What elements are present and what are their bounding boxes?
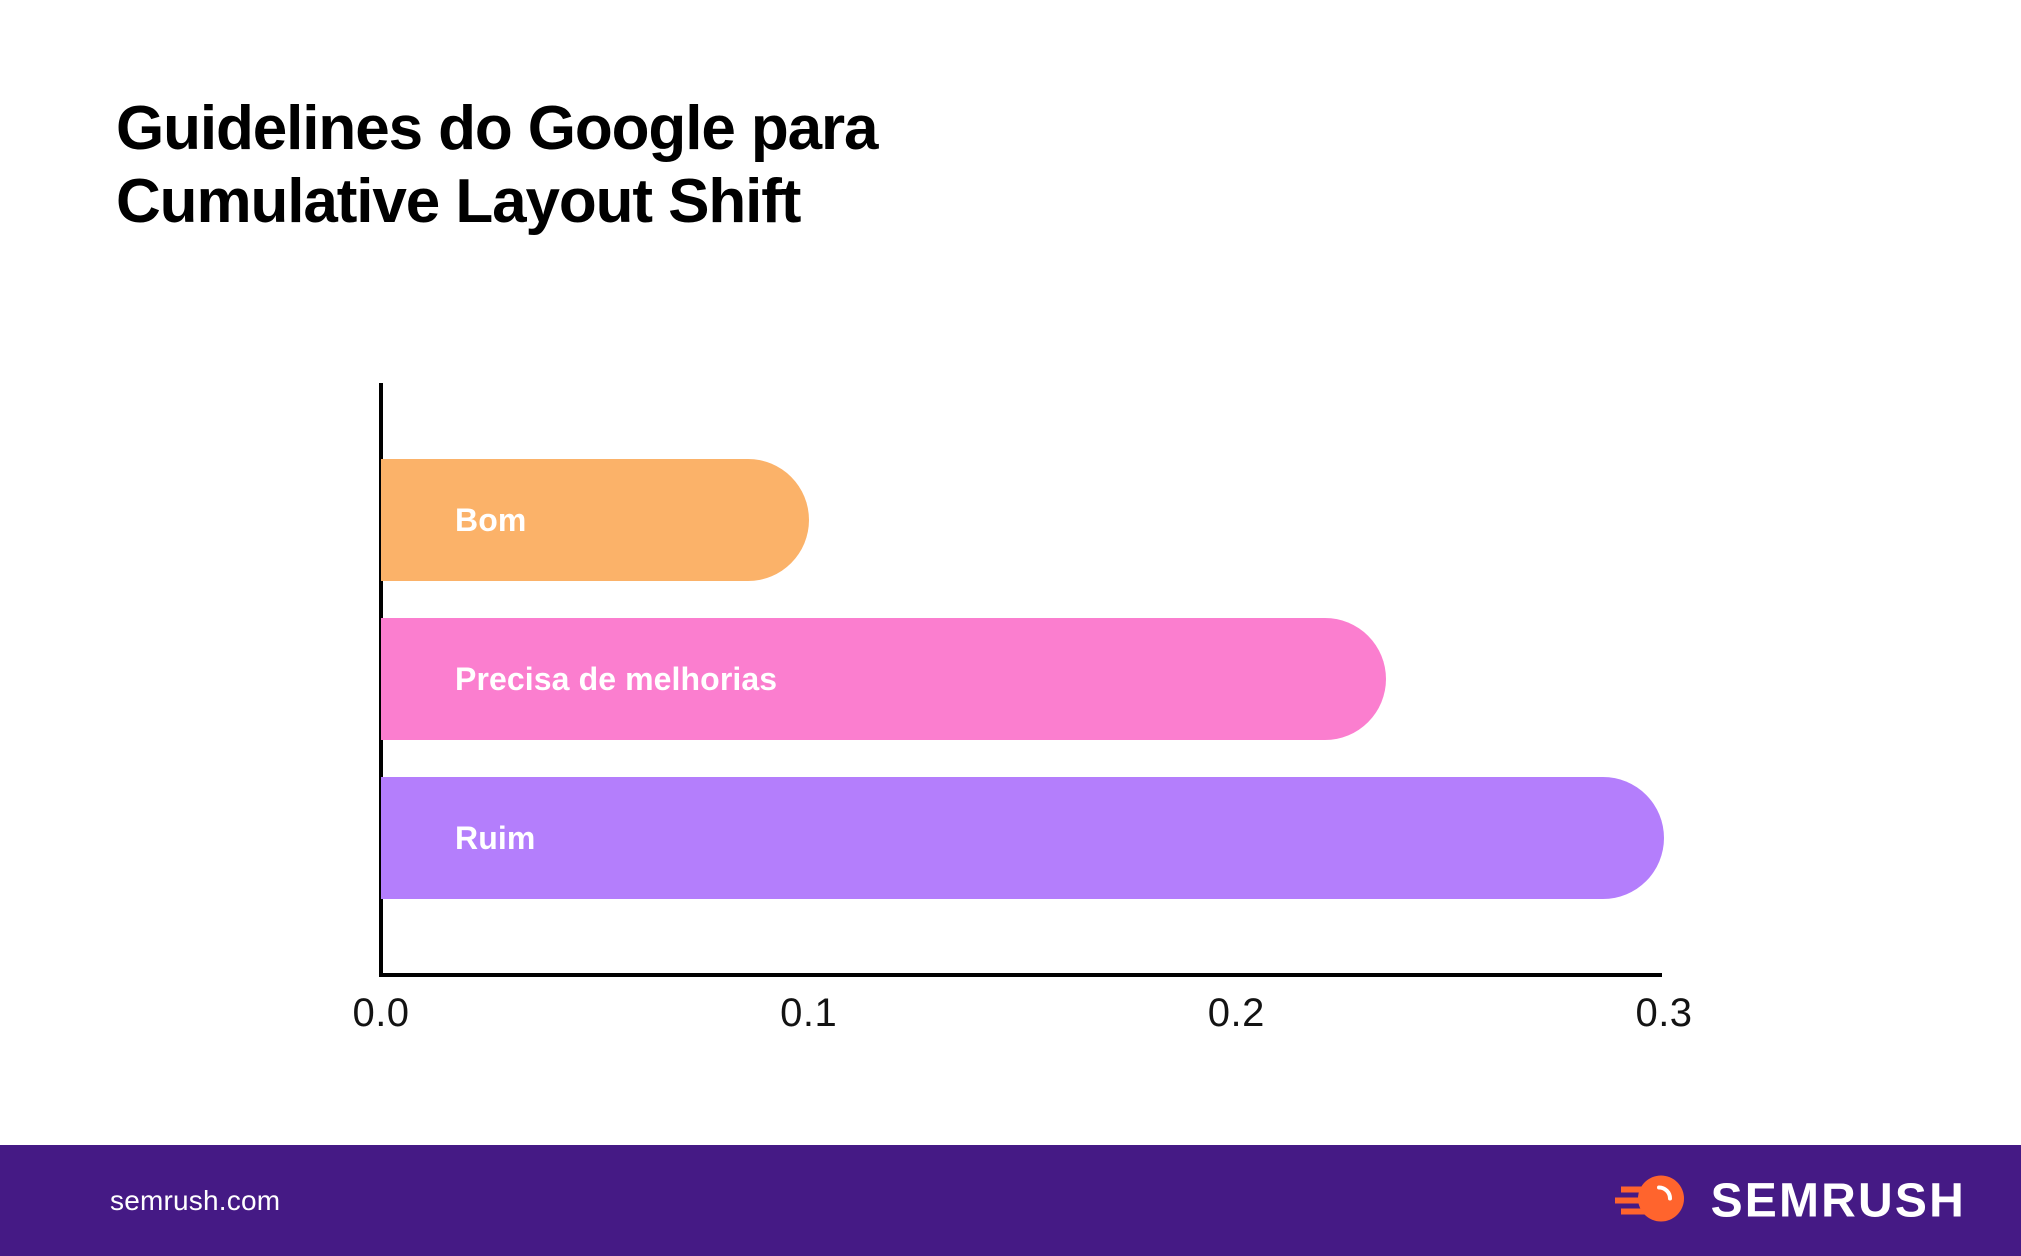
bar-precisa-de-melhorias: Precisa de melhorias (381, 618, 1386, 740)
x-tick-1: 0.1 (780, 991, 837, 1036)
semrush-wordmark: SEMRUSH (1711, 1173, 1966, 1228)
semrush-logo: SEMRUSH (1615, 1171, 1966, 1230)
x-axis-tick-labels: 0.0 0.1 0.2 0.3 (0, 991, 2021, 1051)
bar-label-ruim: Ruim (455, 820, 535, 857)
x-tick-3: 0.3 (1635, 991, 1692, 1036)
bar-label-bom: Bom (455, 502, 526, 539)
x-tick-2: 0.2 (1208, 991, 1265, 1036)
bar-label-precisa-de-melhorias: Precisa de melhorias (455, 661, 777, 698)
x-axis-line (379, 973, 1662, 977)
x-tick-0: 0.0 (352, 991, 409, 1036)
footer-bar: semrush.com SEMRUSH (0, 1145, 2021, 1256)
bar-bom: Bom (381, 459, 809, 581)
bar-chart: Bom Precisa de melhorias Ruim 0.0 0.1 0.… (0, 0, 2021, 1145)
bar-series: Bom Precisa de melhorias Ruim (381, 383, 1671, 973)
semrush-comet-icon (1615, 1171, 1691, 1230)
bar-ruim: Ruim (381, 777, 1664, 899)
footer-url: semrush.com (110, 1185, 280, 1217)
